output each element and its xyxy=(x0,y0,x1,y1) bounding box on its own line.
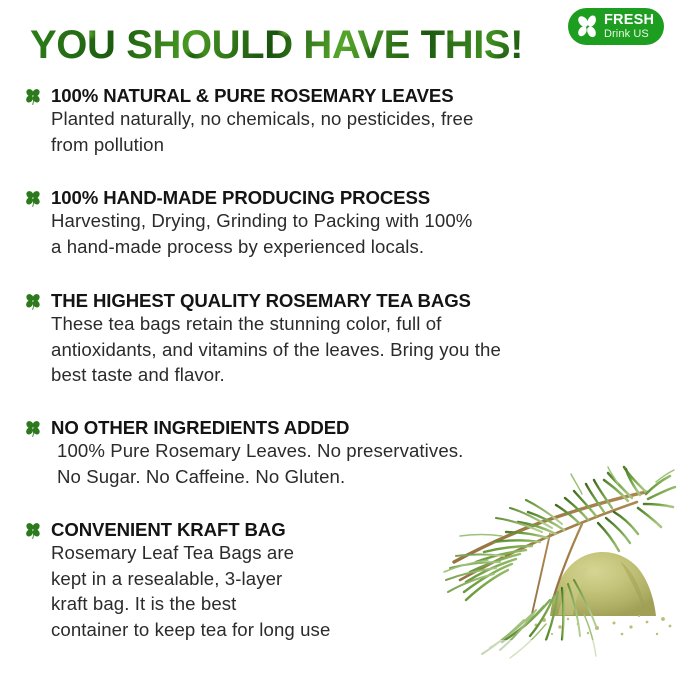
feature-body: These tea bags retain the stunning color… xyxy=(51,311,501,388)
feature-title: CONVENIENT KRAFT BAG xyxy=(51,520,286,539)
fresh-drink-us-logo: FRESH Drink US xyxy=(568,8,664,45)
feature-heading: NO OTHER INGREDIENTS ADDED xyxy=(24,418,463,438)
feature-title: THE HIGHEST QUALITY ROSEMARY TEA BAGS xyxy=(51,291,471,310)
feature-body-line: 100% Pure Rosemary Leaves. No preservati… xyxy=(57,438,463,464)
feature-body-line: Rosemary Leaf Tea Bags are xyxy=(51,540,330,566)
page-title: YOU SHOULD HAVE THIS! xyxy=(30,25,523,65)
feature-item-natural-pure: 100% NATURAL & PURE ROSEMARY LEAVES Plan… xyxy=(24,86,473,157)
feature-item-convenient-kraft-bag: CONVENIENT KRAFT BAG Rosemary Leaf Tea B… xyxy=(24,520,330,642)
feature-body-line: kept in a resealable, 3-layer xyxy=(51,566,330,592)
feature-body-line: Harvesting, Drying, Grinding to Packing … xyxy=(51,208,472,234)
feature-title: NO OTHER INGREDIENTS ADDED xyxy=(51,418,349,437)
feature-body-line: No Sugar. No Caffeine. No Gluten. xyxy=(57,464,463,490)
rosemary-sprigs-and-powder-photo xyxy=(432,464,679,669)
feature-body-line: container to keep tea for long use xyxy=(51,617,330,643)
feature-body-line: a hand-made process by experienced local… xyxy=(51,234,472,260)
feature-heading: 100% HAND-MADE PRODUCING PROCESS xyxy=(24,188,472,208)
feature-heading: CONVENIENT KRAFT BAG xyxy=(24,520,330,540)
feature-item-highest-quality: THE HIGHEST QUALITY ROSEMARY TEA BAGS Th… xyxy=(24,291,501,388)
logo-line-1: FRESH xyxy=(604,13,654,28)
leaf-flower-icon xyxy=(573,12,602,41)
feature-body-line: kraft bag. It is the best xyxy=(51,591,330,617)
feature-title: 100% NATURAL & PURE ROSEMARY LEAVES xyxy=(51,86,454,105)
feature-heading: THE HIGHEST QUALITY ROSEMARY TEA BAGS xyxy=(24,291,501,311)
clover-icon xyxy=(24,292,42,311)
logo-wordmark: FRESH Drink US xyxy=(604,13,654,40)
feature-body-line: from pollution xyxy=(51,132,473,158)
feature-item-no-other-ingredients: NO OTHER INGREDIENTS ADDED 100% Pure Ros… xyxy=(24,418,463,489)
clover-icon xyxy=(24,87,42,106)
feature-body: 100% Pure Rosemary Leaves. No preservati… xyxy=(57,438,463,489)
feature-body-line: antioxidants, and vitamins of the leaves… xyxy=(51,337,501,363)
clover-icon xyxy=(24,419,42,438)
feature-heading: 100% NATURAL & PURE ROSEMARY LEAVES xyxy=(24,86,473,106)
clover-icon xyxy=(24,521,42,540)
feature-item-hand-made: 100% HAND-MADE PRODUCING PROCESS Harvest… xyxy=(24,188,472,259)
feature-body-line: These tea bags retain the stunning color… xyxy=(51,311,501,337)
feature-body-line: Planted naturally, no chemicals, no pest… xyxy=(51,106,473,132)
feature-body: Harvesting, Drying, Grinding to Packing … xyxy=(51,208,472,259)
feature-body: Planted naturally, no chemicals, no pest… xyxy=(51,106,473,157)
feature-title: 100% HAND-MADE PRODUCING PROCESS xyxy=(51,188,430,207)
feature-body-line: best taste and flavor. xyxy=(51,362,501,388)
clover-icon xyxy=(24,189,42,208)
logo-line-2: Drink US xyxy=(604,29,654,40)
feature-body: Rosemary Leaf Tea Bags are kept in a res… xyxy=(51,540,330,642)
